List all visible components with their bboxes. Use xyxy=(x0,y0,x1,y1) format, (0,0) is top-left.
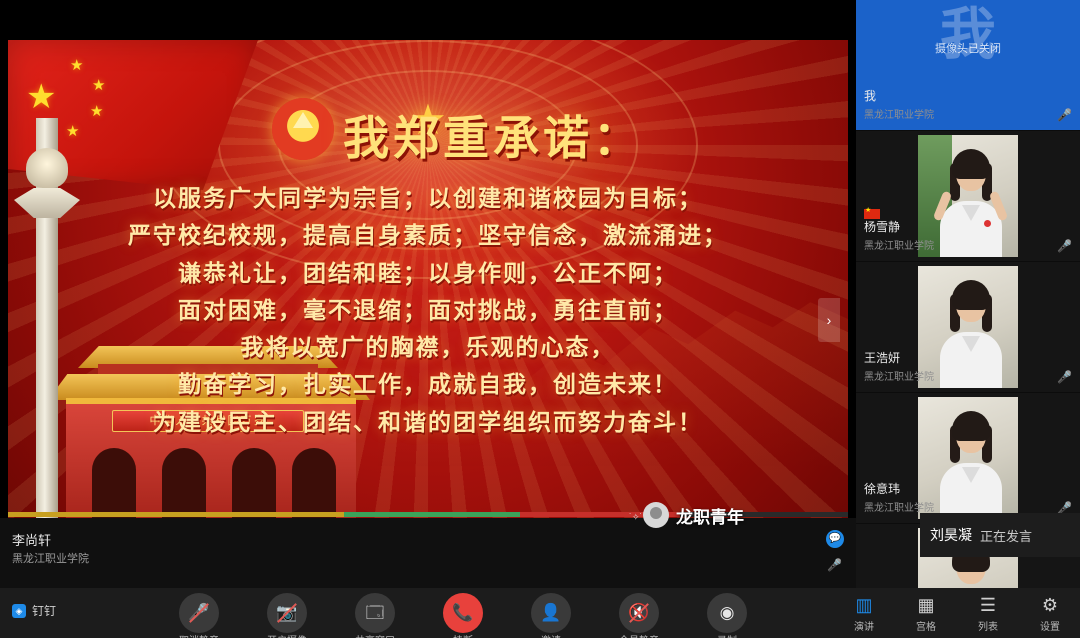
slide-line: 为建设民主、团结、和谐的团学组织而努力奋斗！ xyxy=(8,404,848,441)
slide-line: 勤奋学习，扎实工作，成就自我，创造未来！ xyxy=(8,366,848,403)
video-person-badge xyxy=(984,220,991,227)
brand-label: 钉钉 xyxy=(32,602,56,619)
layout-list-button[interactable]: ☰ 列表 xyxy=(966,592,1010,633)
hangup-button[interactable]: 📞 挂断 xyxy=(440,590,486,638)
control-label: 列表 xyxy=(966,618,1010,633)
tile-watermark: 我 xyxy=(940,0,996,71)
meeting-window: ★ ★ ★ ★ ★ ★ 中华人民共和国万岁 xyxy=(0,0,1080,638)
view-controls: ▥ 演讲 ▦ 宫格 ☰ 列表 ⚙ 设置 xyxy=(842,592,1072,633)
participant-name: 王浩妍 xyxy=(864,349,900,366)
slide-line: 谦恭礼让，团结和睦；以身作则，公正不阿； xyxy=(8,255,848,292)
participant-org: 黑龙江职业学院 xyxy=(864,368,934,383)
video-person-hair xyxy=(952,411,990,441)
mic-toggle-button[interactable]: 🎤 取消静音 xyxy=(176,590,222,638)
brand-badge: ◈ 钉钉 xyxy=(12,602,56,619)
mic-icon: 🎤 xyxy=(1057,370,1072,384)
camera-toggle-button[interactable]: 📷 开启摄像头 xyxy=(264,590,310,638)
hangup-icon: 📞 xyxy=(443,593,483,633)
participant-tile-self[interactable]: 我 摄像头已关闭 我 黑龙江职业学院 🎤 xyxy=(856,0,1080,131)
primary-controls: 🎤 取消静音 📷 开启摄像头 🗔 共享窗口 📞 挂断 👤 邀请 🔇 全员 xyxy=(176,590,750,638)
participant-rail[interactable]: 我 摄像头已关闭 我 黑龙江职业学院 🎤 杨雪静 黑龙江职业学院 xyxy=(856,0,1080,588)
self-video-strip: 李尚轩 黑龙江职业学院 💬 🎤 xyxy=(0,518,856,588)
share-screen-icon: 🗔 xyxy=(355,593,395,633)
control-label: 宫格 xyxy=(904,618,948,633)
list-icon: ☰ xyxy=(966,592,1010,618)
participant-name: 徐意玮 xyxy=(864,480,900,497)
mic-muted-icon: 🎤 xyxy=(179,593,219,633)
slide-line: 严守校纪校规，提高自身素质；坚守信念，激流涌进； xyxy=(8,217,848,254)
participant-name: 杨雪静 xyxy=(864,218,900,235)
grid-icon: ▦ xyxy=(904,592,948,618)
slide-line: 面对困难，毫不退缩；面对挑战，勇往直前； xyxy=(8,292,848,329)
participant-org: 黑龙江职业学院 xyxy=(864,106,934,121)
invite-button[interactable]: 👤 邀请 xyxy=(528,590,574,638)
camera-off-label: 摄像头已关闭 xyxy=(935,40,1001,56)
layout-speaker-button[interactable]: ▥ 演讲 xyxy=(842,592,886,633)
control-label: 演讲 xyxy=(842,618,886,633)
presentation-slide[interactable]: ★ ★ ★ ★ ★ ★ 中华人民共和国万岁 xyxy=(8,40,848,518)
mute-all-icon: 🔇 xyxy=(619,593,659,633)
youth-league-emblem-icon xyxy=(272,98,334,160)
self-org: 黑龙江职业学院 xyxy=(12,550,89,566)
layout-icon: ▥ xyxy=(842,592,886,618)
speaking-name: 刘昊凝 xyxy=(930,525,972,545)
control-label: 设置 xyxy=(1028,618,1072,633)
self-name: 李尚轩 xyxy=(12,530,51,549)
meeting-toolbar: ◈ 钉钉 🎤 取消静音 📷 开启摄像头 🗔 共享窗口 📞 挂断 👤 邀 xyxy=(0,588,1080,638)
camera-icon: 📷 xyxy=(267,593,307,633)
dingtalk-icon: ◈ xyxy=(12,604,26,618)
video-person-hair xyxy=(952,280,990,310)
participant-org: 黑龙江职业学院 xyxy=(864,237,934,252)
slide-title: 我郑重承诺： xyxy=(343,102,643,168)
participant-tile[interactable]: 杨雪静 黑龙江职业学院 🎤 xyxy=(856,131,1080,262)
mic-icon: 🎤 xyxy=(1057,108,1072,122)
speaking-state: 正在发言 xyxy=(980,526,1032,545)
layout-grid-button[interactable]: ▦ 宫格 xyxy=(904,592,948,633)
settings-button[interactable]: ⚙ 设置 xyxy=(1028,592,1072,633)
participant-org: 黑龙江职业学院 xyxy=(864,499,934,514)
participant-name: 我 xyxy=(864,87,876,104)
share-window-button[interactable]: 🗔 共享窗口 xyxy=(352,590,398,638)
video-person-hair xyxy=(952,149,990,179)
mic-icon: 🎤 xyxy=(827,558,842,572)
mute-all-button[interactable]: 🔇 全员静音 xyxy=(616,590,662,638)
record-icon: ◉ xyxy=(707,593,747,633)
slide-text-layer: 我郑重承诺： 以服务广大同学为宗旨；以创建和谐校园为目标； 严守校纪校规，提高自… xyxy=(8,40,848,518)
slide-line: 以服务广大同学为宗旨；以创建和谐校园为目标； xyxy=(8,180,848,217)
mic-icon: 🎤 xyxy=(1057,239,1072,253)
gear-icon: ⚙ xyxy=(1028,592,1072,618)
participant-tile[interactable]: 徐意玮 黑龙江职业学院 🎤 xyxy=(856,393,1080,524)
shared-screen-stage: ★ ★ ★ ★ ★ ★ 中华人民共和国万岁 xyxy=(0,0,856,588)
chat-bubble-icon[interactable]: 💬 xyxy=(826,530,844,548)
participant-tile[interactable]: 王浩妍 黑龙江职业学院 🎤 xyxy=(856,262,1080,393)
invite-icon: 👤 xyxy=(531,593,571,633)
speaking-toast: 刘昊凝 正在发言 xyxy=(920,513,1080,557)
slide-pledge-lines: 以服务广大同学为宗旨；以创建和谐校园为目标； 严守校纪校规，提高自身素质；坚守信… xyxy=(8,180,848,441)
record-button[interactable]: ◉ 录制 xyxy=(704,590,750,638)
slide-line: 我将以宽广的胸襟，乐观的心态， xyxy=(8,329,848,366)
